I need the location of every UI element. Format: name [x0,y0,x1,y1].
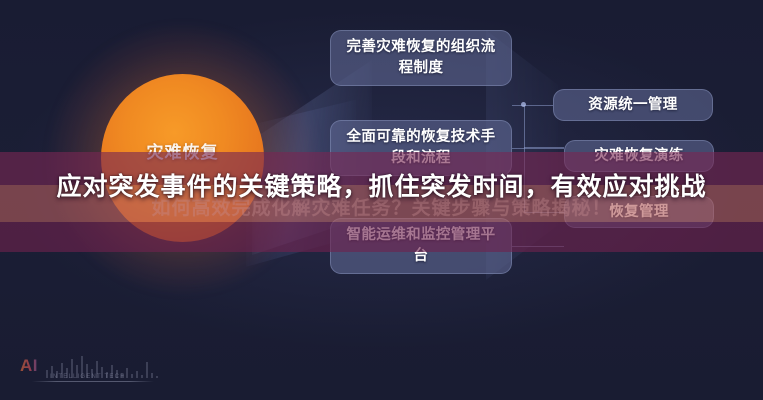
watermark: AI [20,354,170,388]
headline-overlay-text: 应对突发事件的关键策略，抓住突发时间，有效应对挑战 [40,170,723,204]
overlay-band-bottom [0,222,763,252]
promotional-banner-image: 灾难恢复 完善灾难恢复的组织流程制度 全面可靠的恢复技术手段和流程 智能运维和监… [0,0,763,400]
watermark-subtext: INTELLIGENT TECH [50,374,126,380]
connector-line-res-v [524,105,525,148]
connector-line-res-h [512,105,553,106]
connector-dot-top [521,102,526,107]
watermark-brand: AI [20,356,38,376]
node-resource-mgmt[interactable]: 资源统一管理 [553,89,713,121]
connector-line-mid-h [512,148,564,149]
watermark-rule [32,381,154,382]
node-org-process[interactable]: 完善灾难恢复的组织流程制度 [330,30,512,86]
